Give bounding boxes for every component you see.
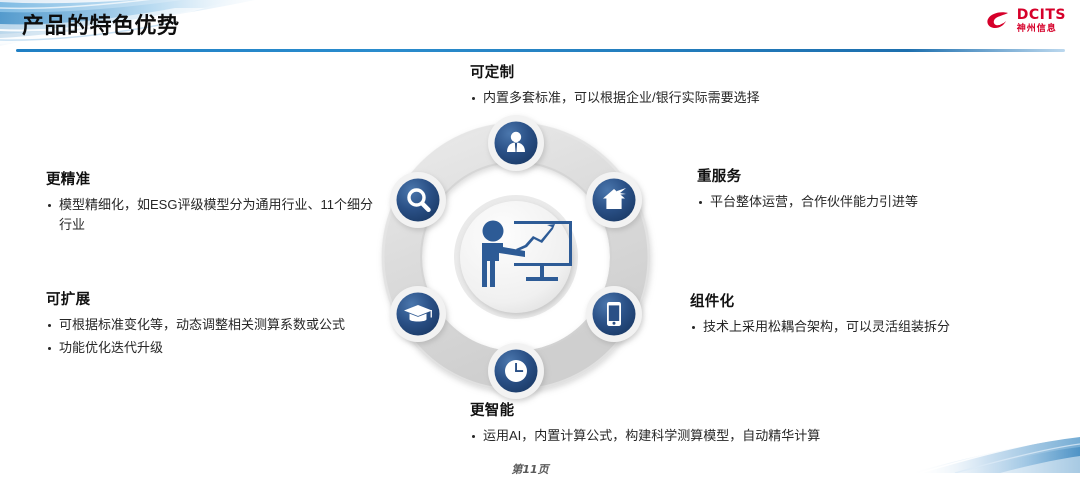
logo-text-cn: 神州信息 [1017,24,1066,33]
mobile-phone-icon [607,302,621,326]
feature-bullet: 平台整体运营，合作伙伴能力引进等 [697,192,1037,212]
slide-canvas: 产品的特色优势 DCITS 神州信息 可定制 内置多套标准，可以根据企业/银行实… [0,0,1080,481]
hub-node-mobile [586,286,642,342]
feature-bullet: 模型精细化，如ESG评级模型分为通用行业、11个细分行业 [46,195,381,234]
logo-text-en: DCITS [1017,8,1066,22]
slide-header: 产品的特色优势 DCITS 神州信息 [0,0,1080,56]
feature-block-componentized: 组件化 技术上采用松耦合架构，可以灵活组装拆分 [690,290,1035,340]
hub-node-search [390,172,446,228]
feature-bullet: 内置多套标准，可以根据企业/银行实际需要选择 [470,88,900,108]
feature-title: 可定制 [470,61,900,82]
clock-icon [505,360,527,382]
hub-node-user [488,115,544,171]
logo-wordmark: DCITS 神州信息 [1017,8,1066,33]
feature-bullet-list: 模型精细化，如ESG评级模型分为通用行业、11个细分行业 [46,195,381,234]
page-number: 第11页 [470,461,590,477]
feature-block-extensible: 可扩展 可根据标准变化等，动态调整相关测算系数或公式 功能优化迭代升级 [46,288,381,360]
feature-bullet: 技术上采用松耦合架构，可以灵活组装拆分 [690,317,1035,337]
footer-swoosh-decoration [850,433,1080,473]
feature-bullet-list: 可根据标准变化等，动态调整相关测算系数或公式 功能优化迭代升级 [46,315,381,357]
feature-block-customizable: 可定制 内置多套标准，可以根据企业/银行实际需要选择 [470,61,900,111]
company-logo: DCITS 神州信息 [985,8,1066,33]
feature-title: 组件化 [690,290,1035,311]
feature-bullet-list: 内置多套标准，可以根据企业/银行实际需要选择 [470,88,900,108]
feature-block-more-accurate: 更精准 模型精细化，如ESG评级模型分为通用行业、11个细分行业 [46,168,381,237]
hub-node-graduation [390,286,446,342]
feature-block-service-focused: 重服务 平台整体运营，合作伙伴能力引进等 [697,165,1037,215]
hub-center-core [454,195,578,319]
feature-bullet-list: 技术上采用松耦合架构，可以灵活组装拆分 [690,317,1035,337]
feature-bullet-list: 平台整体运营，合作伙伴能力引进等 [697,192,1037,212]
hub-node-home [586,172,642,228]
feature-title: 可扩展 [46,288,381,309]
feature-title: 更精准 [46,168,381,189]
page-title: 产品的特色优势 [22,8,180,40]
title-underline-rule [16,49,1065,52]
central-hub-diagram [366,107,666,407]
hub-node-clock [488,343,544,399]
feature-title: 重服务 [697,165,1037,186]
dcits-swoosh-icon [985,10,1011,32]
feature-bullet: 可根据标准变化等，动态调整相关测算系数或公式 [46,315,381,335]
feature-bullet: 功能优化迭代升级 [46,338,381,358]
